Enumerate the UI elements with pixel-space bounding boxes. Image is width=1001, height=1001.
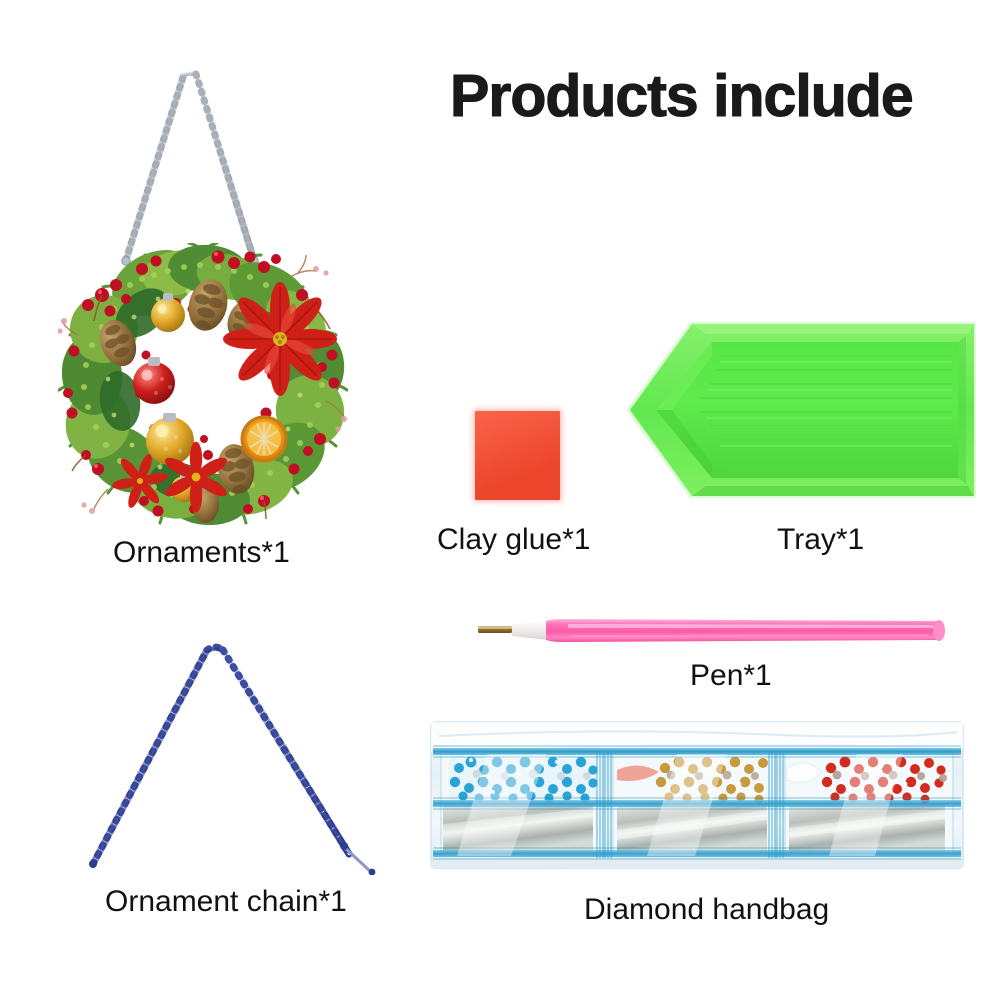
diamond-handbag-label: Diamond handbag bbox=[584, 893, 829, 927]
product-infographic: Products include bbox=[0, 0, 1001, 1001]
ornaments-label: Ornaments*1 bbox=[113, 536, 290, 570]
christmas-wreath-icon bbox=[58, 243, 348, 528]
ornament-chain-icon bbox=[85, 620, 405, 875]
ornament-chain-label: Ornament chain*1 bbox=[105, 885, 347, 919]
pen-icon bbox=[476, 616, 946, 646]
diamond-handbag-icon bbox=[427, 712, 967, 874]
tray-icon bbox=[620, 312, 982, 508]
ornaments-product bbox=[30, 28, 370, 518]
tray-label: Tray*1 bbox=[777, 523, 864, 557]
clay-glue-label: Clay glue*1 bbox=[437, 523, 590, 557]
hanging-chain-icon bbox=[30, 28, 370, 268]
pen-label: Pen*1 bbox=[690, 659, 772, 693]
page-title: Products include bbox=[450, 62, 913, 130]
clay-glue-icon bbox=[475, 411, 560, 500]
